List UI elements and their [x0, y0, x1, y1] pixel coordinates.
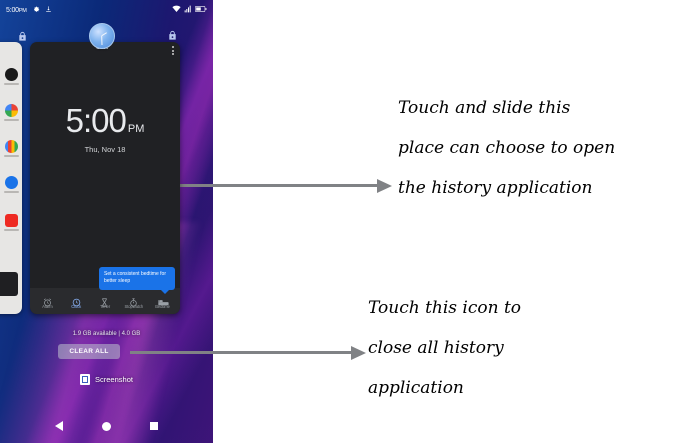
- navigation-bar: [0, 409, 213, 443]
- hourglass-icon: [100, 294, 109, 303]
- more-options-icon[interactable]: [172, 46, 174, 55]
- clock-date: Thu, Nov 18: [30, 145, 180, 154]
- tab-timer[interactable]: Timer: [91, 294, 119, 309]
- clock-icon: [89, 23, 115, 49]
- screenshot-label: Screenshot: [95, 375, 133, 384]
- list-item: [3, 214, 20, 231]
- annotation-line: Touch and slide this: [398, 88, 615, 128]
- tab-label: Stopwatch: [120, 304, 148, 309]
- bed-icon: [158, 294, 167, 303]
- list-item: [3, 104, 20, 121]
- battery-icon: [195, 5, 207, 15]
- annotation-line: Touch this icon to: [368, 288, 521, 328]
- app-chip[interactable]: Clock: [88, 23, 116, 51]
- list-item: [3, 140, 20, 157]
- thumbnail: [0, 272, 18, 296]
- recents-card-previous[interactable]: [0, 42, 22, 314]
- tab-label: Bedtime: [149, 304, 177, 309]
- tab-label: Timer: [91, 304, 119, 309]
- tab-bedtime[interactable]: Bedtime: [149, 294, 177, 309]
- annotation-text-1: Touch and slide this place can choose to…: [398, 88, 615, 208]
- wifi-icon: [172, 5, 181, 15]
- home-button[interactable]: [102, 422, 111, 431]
- annotation-line: close all history: [368, 328, 521, 368]
- tab-alarm[interactable]: Alarm: [33, 294, 61, 309]
- screenshot-icon: [80, 374, 90, 385]
- alarm-icon: [43, 294, 52, 303]
- bedtime-tooltip[interactable]: Set a consistent bedtime for better slee…: [99, 267, 175, 290]
- settings-gear-icon: [32, 5, 40, 15]
- status-bar-clock: 5:00PM: [6, 7, 27, 14]
- lock-icon[interactable]: [167, 28, 178, 39]
- arrow-head-icon: [377, 179, 392, 193]
- tab-clock[interactable]: Clock: [62, 294, 90, 309]
- clear-all-button[interactable]: CLEAR ALL: [58, 344, 120, 359]
- arrow-head-icon: [351, 346, 366, 360]
- recents-button[interactable]: [150, 422, 158, 430]
- tab-stopwatch[interactable]: Stopwatch: [120, 294, 148, 309]
- status-bar-right: [172, 5, 207, 15]
- annotation-text-2: Touch this icon to close all history app…: [368, 288, 521, 408]
- back-button[interactable]: [55, 421, 63, 431]
- tooltip-text: Set a consistent bedtime for better slee…: [104, 271, 166, 284]
- cellular-signal-icon: [184, 5, 192, 15]
- status-bar: 5:00PM: [0, 0, 213, 20]
- tab-label: Alarm: [33, 304, 61, 309]
- arrow-shaft: [130, 351, 352, 354]
- screenshot-action[interactable]: Screenshot: [0, 374, 213, 385]
- stopwatch-icon: [129, 294, 138, 303]
- annotation-line: place can choose to open: [398, 128, 615, 168]
- memory-status-text: 1.9 GB available | 4.0 GB: [0, 331, 213, 337]
- list-item: [3, 68, 20, 85]
- lock-icon[interactable]: [17, 29, 28, 40]
- clock-face-icon: [72, 294, 81, 303]
- list-item: [3, 176, 20, 193]
- annotation-line: application: [368, 368, 521, 408]
- clock-tab-bar: Alarm Clock Timer Stopwatch: [30, 288, 180, 314]
- phone-screenshot: 5:00PM: [0, 0, 213, 443]
- status-bar-left: 5:00PM: [6, 5, 52, 15]
- tab-label: Clock: [62, 304, 90, 309]
- clock-time: 5:00PM: [30, 104, 180, 137]
- recents-card-clock[interactable]: 5:00PM Thu, Nov 18 Set a consistent bedt…: [30, 42, 180, 314]
- annotation-line: the history application: [398, 168, 615, 208]
- download-icon: [45, 5, 52, 15]
